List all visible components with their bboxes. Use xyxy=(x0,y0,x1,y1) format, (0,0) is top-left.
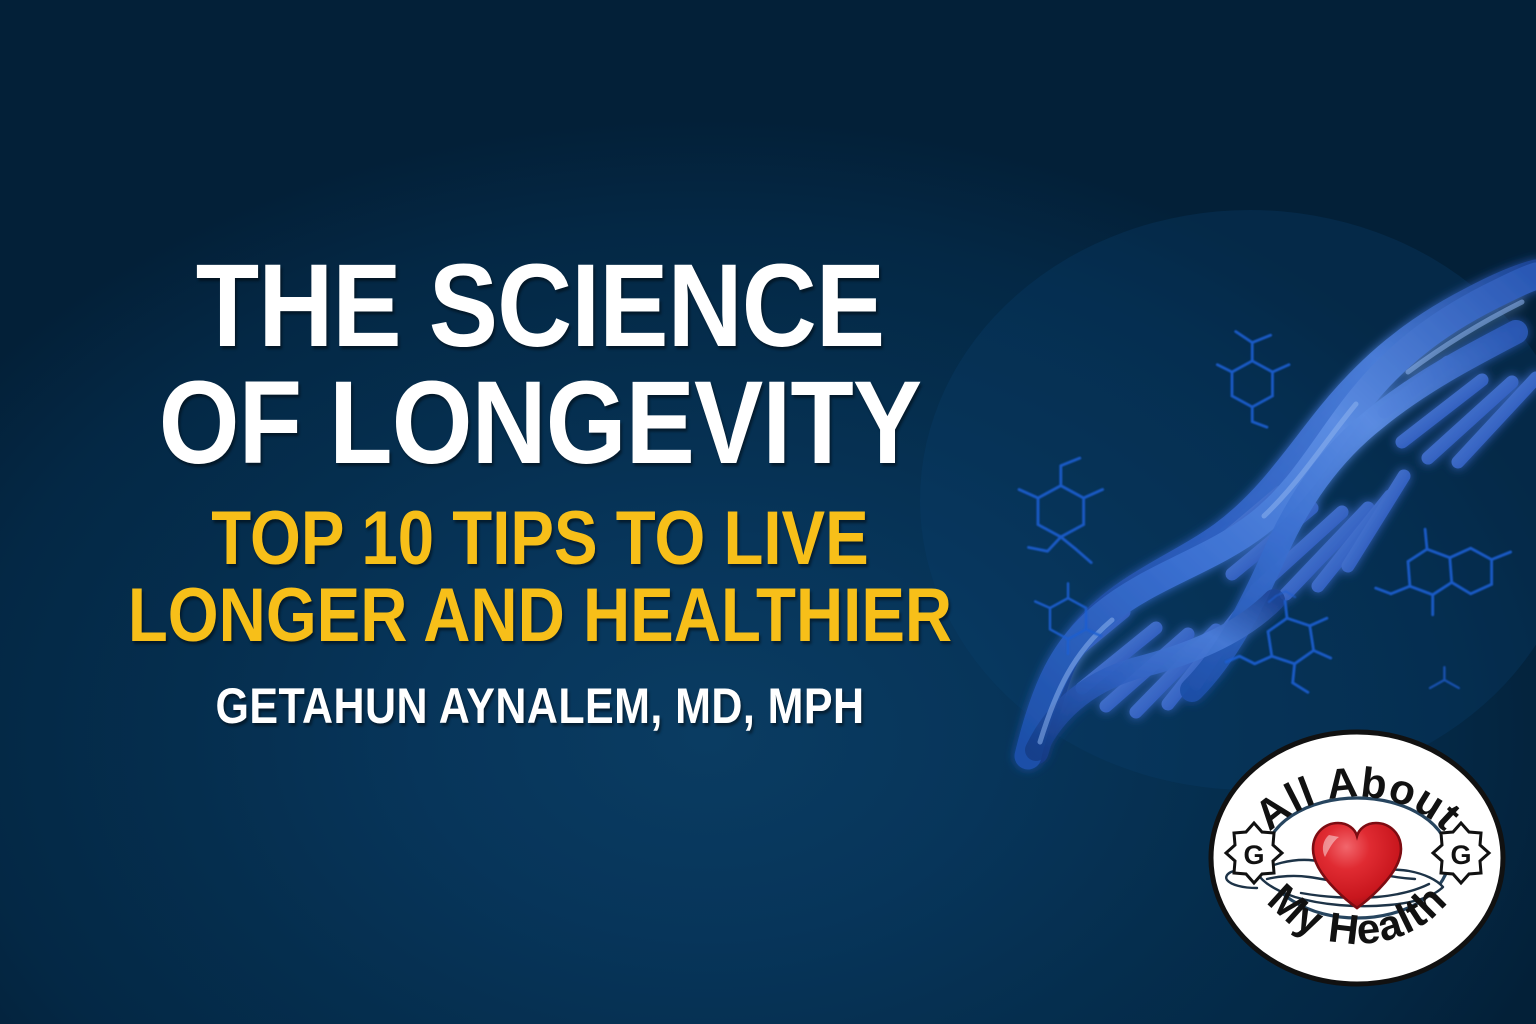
title-line-1: THE SCIENCE xyxy=(65,248,1015,365)
molecule-hexagon-icon xyxy=(1226,601,1331,692)
molecule-fragment-icon xyxy=(1430,667,1459,688)
title-block: THE SCIENCE OF LONGEVITY TOP 10 TIPS TO … xyxy=(0,248,1080,735)
all-about-my-health-logo[interactable]: G G All About My Health xyxy=(1205,727,1510,989)
subtitle-line-1: TOP 10 TIPS TO LIVE xyxy=(76,500,1005,578)
molecule-bicyclic-icon xyxy=(1376,529,1511,615)
author-byline: GETAHUN AYNALEM, MD, MPH xyxy=(76,677,1005,735)
molecule-hexagon-icon xyxy=(1217,332,1289,428)
badge-left-letter: G xyxy=(1243,840,1264,870)
page-title: THE SCIENCE OF LONGEVITY xyxy=(0,248,1080,482)
molecule-fragment-icon xyxy=(1269,591,1295,602)
subtitle-line-2: LONGER AND HEALTHIER xyxy=(76,577,1005,655)
slide-canvas: THE SCIENCE OF LONGEVITY TOP 10 TIPS TO … xyxy=(0,0,1536,1024)
title-line-2: OF LONGEVITY xyxy=(65,365,1015,482)
subtitle: TOP 10 TIPS TO LIVE LONGER AND HEALTHIER xyxy=(0,500,1080,655)
dna-double-helix-icon xyxy=(1028,272,1536,756)
badge-right-letter: G xyxy=(1450,840,1471,870)
